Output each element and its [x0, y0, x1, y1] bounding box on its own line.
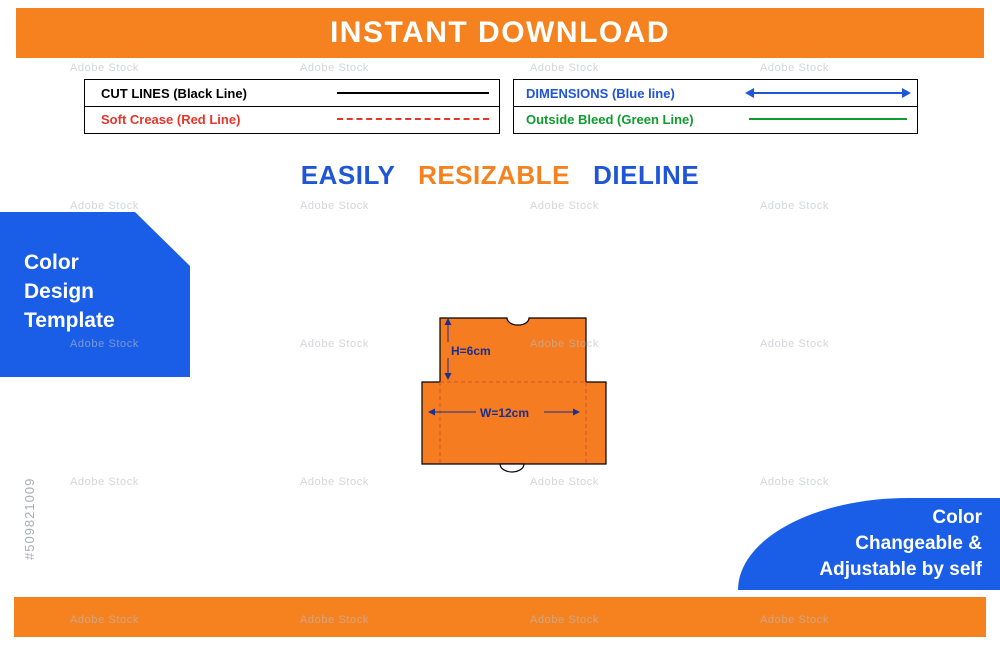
blob-right-line-3: Adjustable by self [742, 557, 982, 583]
solid-green-line-icon [749, 118, 907, 120]
watermark: Adobe Stock [70, 200, 139, 212]
solid-black-line-icon [337, 92, 489, 94]
flag-left-text: Color Design Template [24, 248, 115, 335]
headline-word-dieline: DIELINE [593, 160, 699, 190]
legend-row-outside-bleed: Outside Bleed (Green Line) [514, 106, 917, 132]
bottom-right-notch [986, 597, 1000, 637]
legend-row-cut-lines: CUT LINES (Black Line) [85, 80, 499, 106]
banner-right-notch [984, 8, 1000, 58]
double-arrow-icon [753, 92, 903, 94]
watermark: Adobe Stock [300, 338, 369, 350]
legend-label-outside-bleed: Outside Bleed (Green Line) [514, 112, 741, 127]
dashed-red-line-icon [337, 118, 489, 120]
poster-stage: INSTANT DOWNLOAD CUT LINES (Black Line) … [0, 0, 1000, 666]
dieline-svg: H=6cm W=12cm [408, 300, 628, 480]
banner-title: INSTANT DOWNLOAD [0, 8, 1000, 58]
width-label: W=12cm [480, 406, 529, 420]
legend-sample-outside-bleed [741, 106, 917, 132]
legend-label-dimensions: DIMENSIONS (Blue line) [514, 86, 741, 101]
legend-sample-dimensions [741, 80, 917, 106]
banner-left-notch [0, 8, 16, 58]
headline: EASILY RESIZABLE DIELINE [0, 160, 1000, 191]
legend-label-soft-crease: Soft Crease (Red Line) [85, 112, 331, 127]
watermark: Adobe Stock [760, 338, 829, 350]
blob-right-line-1: Color [742, 505, 982, 531]
color-design-template-flag: Color Design Template [0, 212, 190, 377]
watermark: Adobe Stock [530, 62, 599, 74]
legend-row-dimensions: DIMENSIONS (Blue line) [514, 80, 917, 106]
watermark: Adobe Stock [70, 476, 139, 488]
dieline-cut-outline [422, 318, 606, 464]
flag-left-line-3: Template [24, 306, 115, 335]
legend-row-soft-crease: Soft Crease (Red Line) [85, 106, 499, 132]
headline-word-easily: EASILY [301, 160, 395, 190]
color-changeable-blob: Color Changeable & Adjustable by self [738, 498, 1000, 590]
headline-word-resizable: RESIZABLE [418, 160, 570, 190]
legend-sample-cut-lines [331, 80, 499, 106]
flag-left-line-1: Color [24, 248, 115, 277]
height-label: H=6cm [451, 344, 491, 358]
watermark: Adobe Stock [760, 62, 829, 74]
blob-right-line-2: Changeable & [742, 531, 982, 557]
watermark: Adobe Stock [300, 62, 369, 74]
watermark: Adobe Stock [760, 200, 829, 212]
legend-box-left: CUT LINES (Black Line) Soft Crease (Red … [84, 79, 500, 134]
bottom-banner [0, 597, 1000, 637]
legend-label-cut-lines: CUT LINES (Black Line) [85, 86, 331, 101]
dieline-drawing: H=6cm W=12cm [408, 300, 628, 480]
watermark: Adobe Stock [300, 200, 369, 212]
stock-id-label: #509821009 [22, 478, 37, 560]
top-banner: INSTANT DOWNLOAD [0, 8, 1000, 58]
flag-left-line-2: Design [24, 277, 115, 306]
watermark: Adobe Stock [760, 476, 829, 488]
bottom-left-notch [0, 597, 14, 637]
watermark: Adobe Stock [300, 476, 369, 488]
legend-box-right: DIMENSIONS (Blue line) Outside Bleed (Gr… [513, 79, 918, 134]
dieline-bottom-notch [500, 464, 524, 472]
watermark: Adobe Stock [70, 62, 139, 74]
legend-sample-soft-crease [331, 106, 499, 132]
blob-right-text: Color Changeable & Adjustable by self [742, 505, 982, 583]
watermark: Adobe Stock [530, 200, 599, 212]
